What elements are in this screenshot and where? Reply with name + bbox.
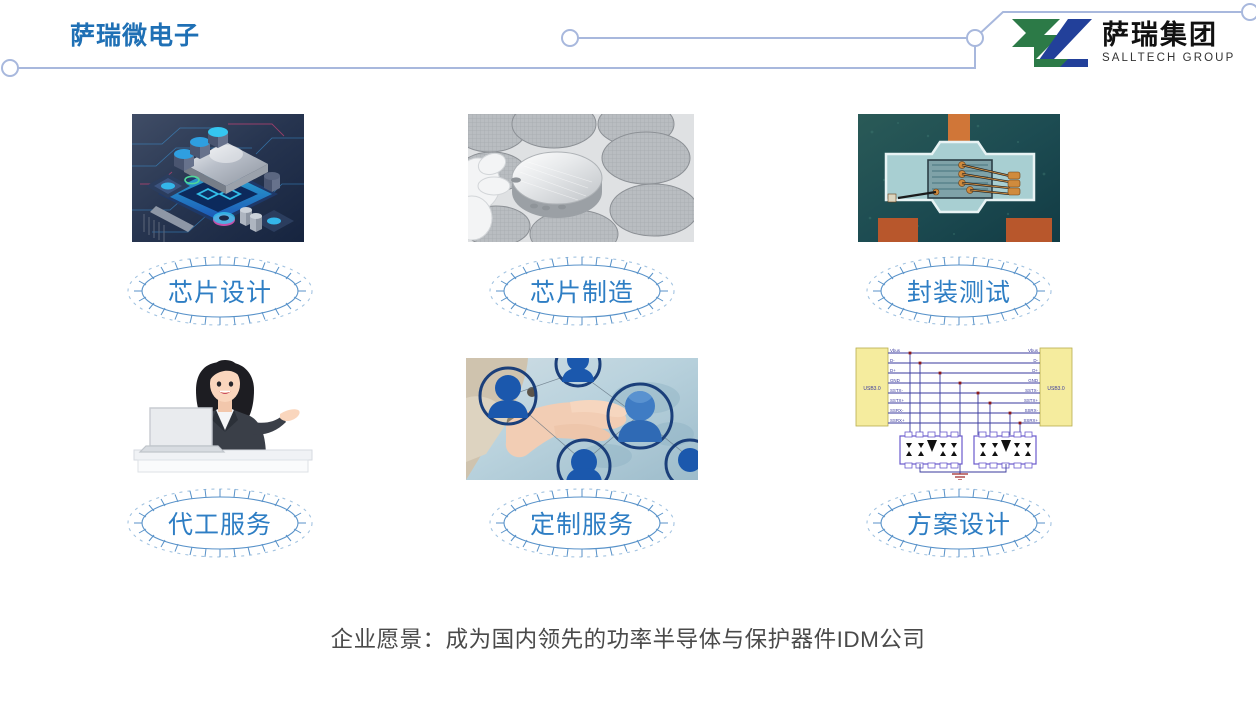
isometric-circuit-board-chip-photo xyxy=(132,114,304,242)
svg-text:Vbus: Vbus xyxy=(1028,348,1039,353)
label-solution-design: 方案设计 xyxy=(849,482,1069,564)
service-card-custom-service[interactable]: 定制服务 xyxy=(420,336,840,576)
services-grid: 芯片设计 xyxy=(0,100,1256,580)
deco-node-left xyxy=(2,60,18,76)
vision-caption: 企业愿景：成为国内领先的功率半导体与保护器件IDM公司 xyxy=(0,622,1256,654)
svg-text:GND: GND xyxy=(1028,378,1038,383)
salltech-sl-logo-mark xyxy=(1008,17,1094,69)
thumb-chip-design xyxy=(132,114,304,242)
svg-text:USB3.0: USB3.0 xyxy=(863,386,880,392)
label-text-chip-design: 芯片设计 xyxy=(110,250,330,332)
svg-text:SSTX+: SSTX+ xyxy=(890,398,904,403)
service-card-packaging-testing[interactable]: 封装测试 xyxy=(840,100,1256,340)
company-logo: 萨瑞集团 SALLTECH GROUP xyxy=(1008,12,1248,74)
svg-text:D+: D+ xyxy=(1032,368,1038,373)
svg-text:SSRX+: SSRX+ xyxy=(890,418,905,423)
page-title: 萨瑞微电子 xyxy=(70,16,200,52)
hand-touching-network-icons-photo xyxy=(466,358,698,480)
svg-text:SSRX+: SSRX+ xyxy=(1023,418,1038,423)
svg-text:D+: D+ xyxy=(890,368,896,373)
deco-node-logo xyxy=(967,30,983,46)
thumb-chip-manufacturing xyxy=(468,114,694,242)
label-foundry-service: 代工服务 xyxy=(110,482,330,564)
logo-name-cn: 萨瑞集团 xyxy=(1102,22,1235,49)
service-card-foundry-service[interactable]: 代工服务 xyxy=(0,336,420,576)
svg-text:SSRX-: SSRX- xyxy=(1025,408,1039,413)
businesswoman-with-laptop-illustration xyxy=(126,346,322,474)
svg-text:D-: D- xyxy=(890,358,895,363)
silicon-wafers-photo xyxy=(468,114,694,242)
label-chip-manufacturing: 芯片制造 xyxy=(472,250,692,332)
deco-node-middle xyxy=(562,30,578,46)
svg-text:USB3.0: USB3.0 xyxy=(1047,386,1064,392)
thumb-custom-service xyxy=(466,358,698,480)
thumb-packaging-testing xyxy=(858,114,1060,242)
label-text-foundry-service: 代工服务 xyxy=(110,482,330,564)
svg-text:SSRX-: SSRX- xyxy=(890,408,904,413)
logo-text-block: 萨瑞集团 SALLTECH GROUP xyxy=(1102,22,1235,65)
label-text-custom-service: 定制服务 xyxy=(472,482,692,564)
svg-text:SSTX+: SSTX+ xyxy=(1024,398,1038,403)
service-card-solution-design[interactable]: USB3.0 USB3.0 VbusD- D+GND SS xyxy=(840,336,1256,576)
page-header: 萨瑞微电子 萨瑞集团 SALLTECH GROUP xyxy=(0,0,1256,92)
thumb-solution-design: USB3.0 USB3.0 VbusD- D+GND SS xyxy=(848,340,1080,480)
label-packaging-testing: 封装测试 xyxy=(849,250,1069,332)
service-card-chip-manufacturing[interactable]: 芯片制造 xyxy=(420,100,840,340)
svg-text:SSTX-: SSTX- xyxy=(890,388,903,393)
thumb-foundry-service xyxy=(126,346,322,474)
wire-bonded-die-microscope-photo xyxy=(858,114,1060,242)
svg-text:SSTX-: SSTX- xyxy=(1025,388,1038,393)
svg-text:Vbus: Vbus xyxy=(890,348,901,353)
label-custom-service: 定制服务 xyxy=(472,482,692,564)
service-card-chip-design[interactable]: 芯片设计 xyxy=(0,100,420,340)
label-chip-design: 芯片设计 xyxy=(110,250,330,332)
label-text-solution-design: 方案设计 xyxy=(849,482,1069,564)
svg-text:GND: GND xyxy=(890,378,900,383)
svg-text:D-: D- xyxy=(1033,358,1038,363)
usb3-esd-protection-schematic: USB3.0 USB3.0 VbusD- D+GND SS xyxy=(848,340,1080,480)
label-text-packaging-testing: 封装测试 xyxy=(849,250,1069,332)
label-text-chip-manufacturing: 芯片制造 xyxy=(472,250,692,332)
logo-name-en: SALLTECH GROUP xyxy=(1102,53,1235,65)
